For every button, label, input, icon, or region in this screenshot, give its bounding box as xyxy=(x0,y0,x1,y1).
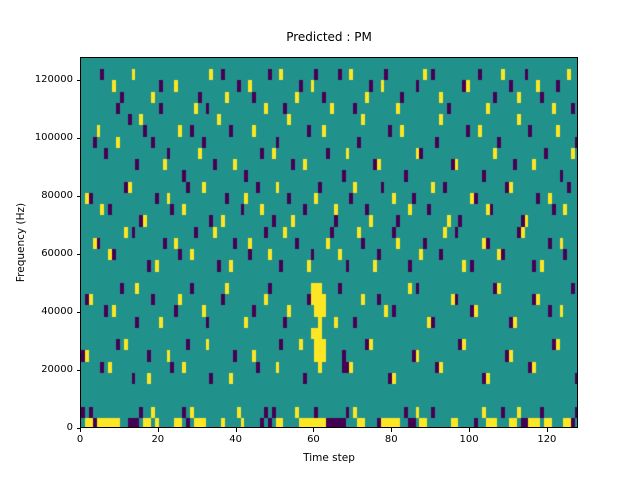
y-tick xyxy=(77,428,81,429)
y-ticklabel: 120000 xyxy=(35,74,73,86)
y-tick xyxy=(77,312,81,313)
x-tick xyxy=(469,428,470,432)
y-tick xyxy=(77,196,81,197)
y-tick xyxy=(77,80,81,81)
y-axis-label: Frequency (Hz) xyxy=(14,57,28,428)
y-ticklabel: 40000 xyxy=(41,306,73,318)
x-ticklabel: 120 xyxy=(537,434,556,446)
y-ticklabel: 0 xyxy=(67,422,73,434)
y-ticklabel: 60000 xyxy=(41,248,73,260)
x-ticklabel: 20 xyxy=(151,434,164,446)
y-tick xyxy=(77,370,81,371)
x-tick xyxy=(80,428,81,432)
heatmap-axes xyxy=(80,57,578,428)
x-tick xyxy=(236,428,237,432)
y-tick xyxy=(77,254,81,255)
x-ticklabel: 80 xyxy=(385,434,398,446)
x-ticklabel: 60 xyxy=(307,434,320,446)
y-ticklabel: 20000 xyxy=(41,364,73,376)
x-ticklabel: 100 xyxy=(460,434,479,446)
heatmap-image xyxy=(81,58,578,428)
x-tick xyxy=(313,428,314,432)
y-tick xyxy=(77,138,81,139)
x-ticklabel: 0 xyxy=(77,434,83,446)
x-axis-label: Time step xyxy=(80,452,578,465)
x-tick xyxy=(391,428,392,432)
matplotlib-figure: Predicted : PM 020406080100120 020000400… xyxy=(0,0,640,480)
x-tick xyxy=(547,428,548,432)
x-ticklabel: 40 xyxy=(229,434,242,446)
y-ticklabel: 100000 xyxy=(35,132,73,144)
x-tick xyxy=(158,428,159,432)
y-ticklabel: 80000 xyxy=(41,190,73,202)
page-title: Predicted : PM xyxy=(80,30,578,44)
